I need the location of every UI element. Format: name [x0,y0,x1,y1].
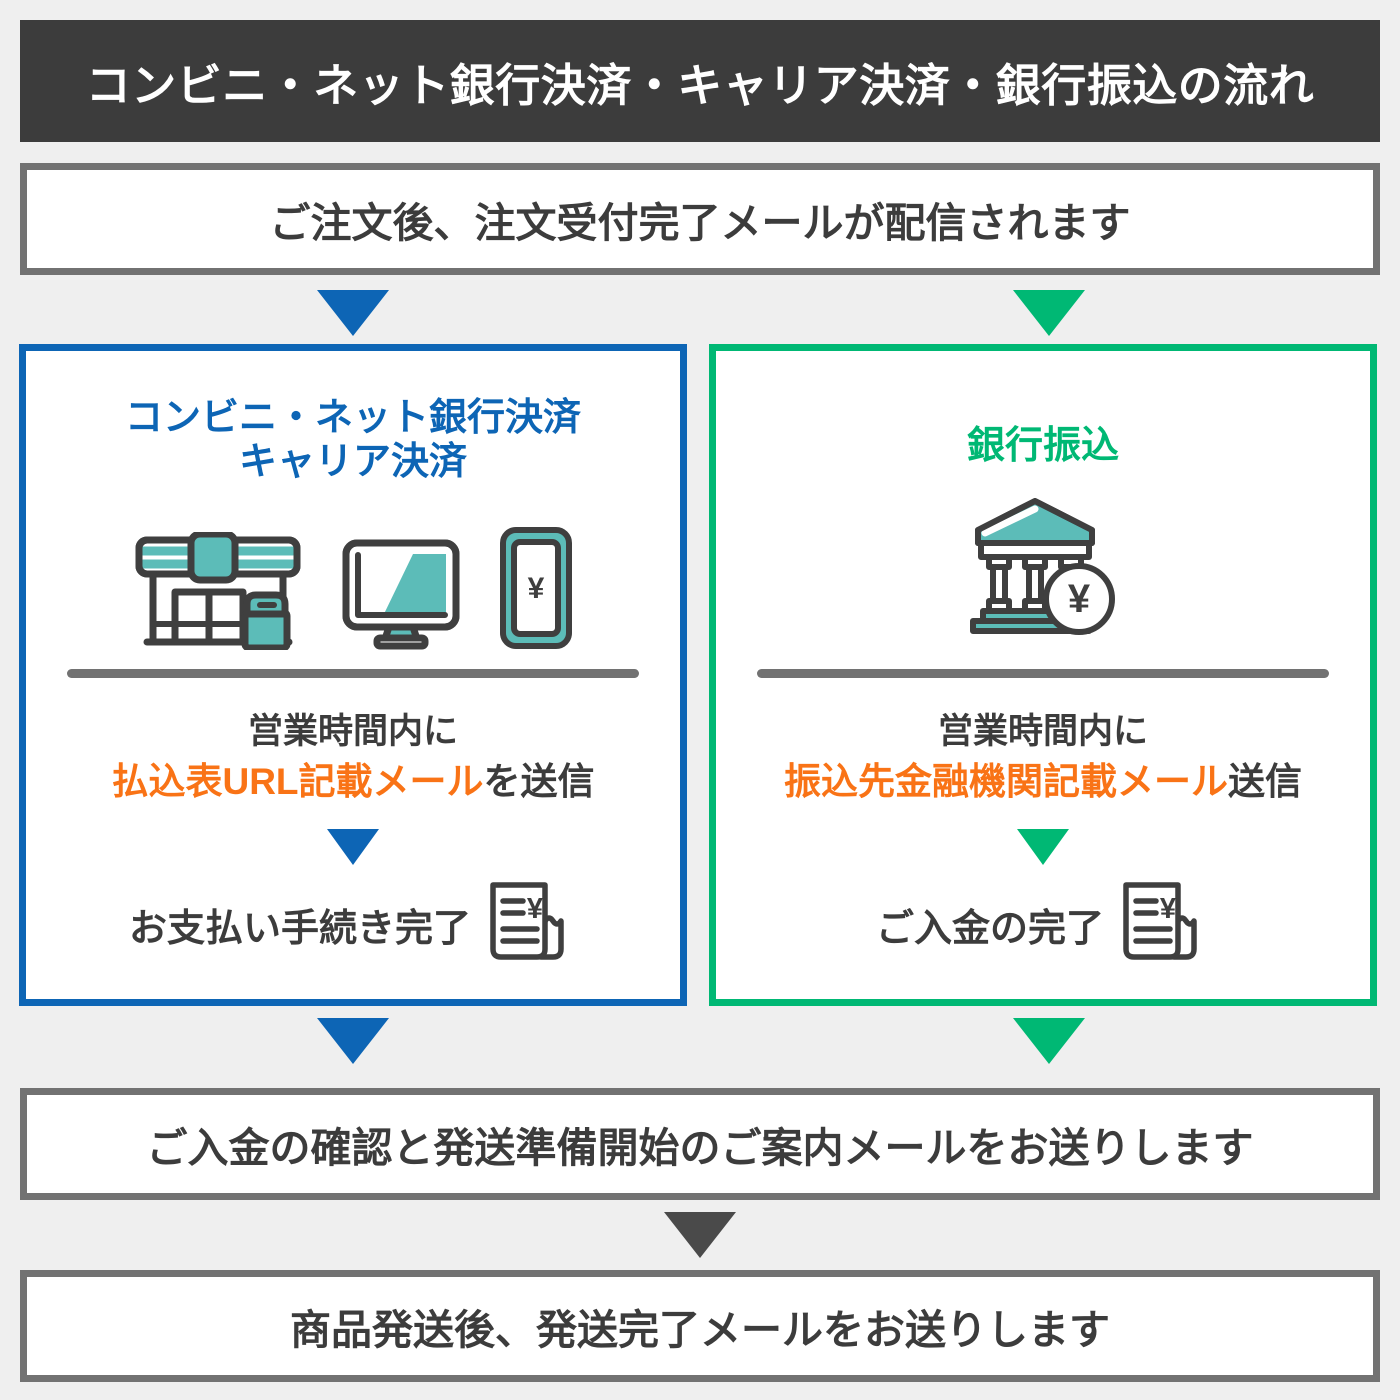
panel-bank-transfer: 銀行振込 [709,344,1377,1006]
receipt-yen-icon: ¥ [485,879,577,969]
payment-flow-diagram: コンビニ・ネット銀行決済・キャリア決済・銀行振込の流れ ご注文後、注文受付完了メ… [0,0,1400,1400]
arrow-down-to-cvs-icon [317,290,389,336]
panel-convenience-payment: コンビニ・ネット銀行決済 キャリア決済 [19,344,687,1006]
svg-text:¥: ¥ [1160,893,1176,925]
convenience-store-icon [133,532,303,650]
svg-text:¥: ¥ [527,893,543,925]
cvs-notice-suffix: を送信 [484,761,595,802]
step-order-mail-text: ご注文後、注文受付完了メールが配信されます [270,189,1131,249]
arrow-down-to-bank-icon [1013,290,1085,336]
cvs-final-text: お支払い手続き完了 [129,897,471,952]
panel-bank-heading: 銀行振込 [967,425,1119,469]
step-payment-confirm-text: ご入金の確認と発送準備開始のご案内メールをお送りします [147,1114,1254,1174]
diagram-header: コンビニ・ネット銀行決済・キャリア決済・銀行振込の流れ [20,20,1380,142]
receipt-yen-icon: ¥ [1118,879,1210,969]
cvs-notice-line1: 営業時間内に [26,703,680,754]
arrow-down-cvs-complete-icon [327,829,379,865]
bank-final-text: ご入金の完了 [876,897,1104,952]
panel-cvs-heading-line2: キャリア決済 [239,441,467,483]
bank-divider [757,669,1329,678]
bank-notice-highlight: 振込先金融機関記載メール [784,761,1228,802]
step-order-mail-band: ご注文後、注文受付完了メールが配信されます [20,163,1380,275]
arrow-down-bank-complete-icon [1017,829,1069,865]
bank-yen-icon: ¥ [963,495,1123,637]
panel-cvs-heading-line1: コンビニ・ネット銀行決済 [125,397,581,439]
step-payment-confirm-band: ご入金の確認と発送準備開始のご案内メールをお送りします [20,1088,1380,1200]
svg-text:¥: ¥ [1068,577,1091,621]
bank-notice-line2: 振込先金融機関記載メール送信 [716,751,1370,805]
bank-icon-row: ¥ [963,497,1123,637]
cvs-final-row: お支払い手続き完了 ¥ [26,879,680,969]
step-shipping-band: 商品発送後、発送完了メールをお送りします [20,1270,1380,1382]
cvs-icon-row: ¥ [133,510,573,650]
step-shipping-text: 商品発送後、発送完了メールをお送りします [290,1296,1110,1356]
page-title: コンビニ・ネット銀行決済・キャリア決済・銀行振込の流れ [86,49,1315,114]
smartphone-yen-icon: ¥ [499,526,573,650]
svg-text:¥: ¥ [528,572,545,605]
cvs-divider [67,669,639,678]
cvs-notice-line2: 払込表URL記載メールを送信 [26,751,680,805]
panel-cvs-heading: コンビニ・ネット銀行決済 キャリア決済 [125,397,581,484]
arrow-down-to-shipping-icon [664,1212,736,1258]
arrow-down-cvs-to-confirm-icon [317,1018,389,1064]
bank-final-row: ご入金の完了 ¥ [716,879,1370,969]
desktop-monitor-icon [341,538,461,650]
bank-notice-line1: 営業時間内に [716,703,1370,754]
cvs-notice-highlight: 払込表URL記載メール [111,761,483,802]
bank-notice-suffix: 送信 [1228,761,1302,802]
arrow-down-bank-to-confirm-icon [1013,1018,1085,1064]
